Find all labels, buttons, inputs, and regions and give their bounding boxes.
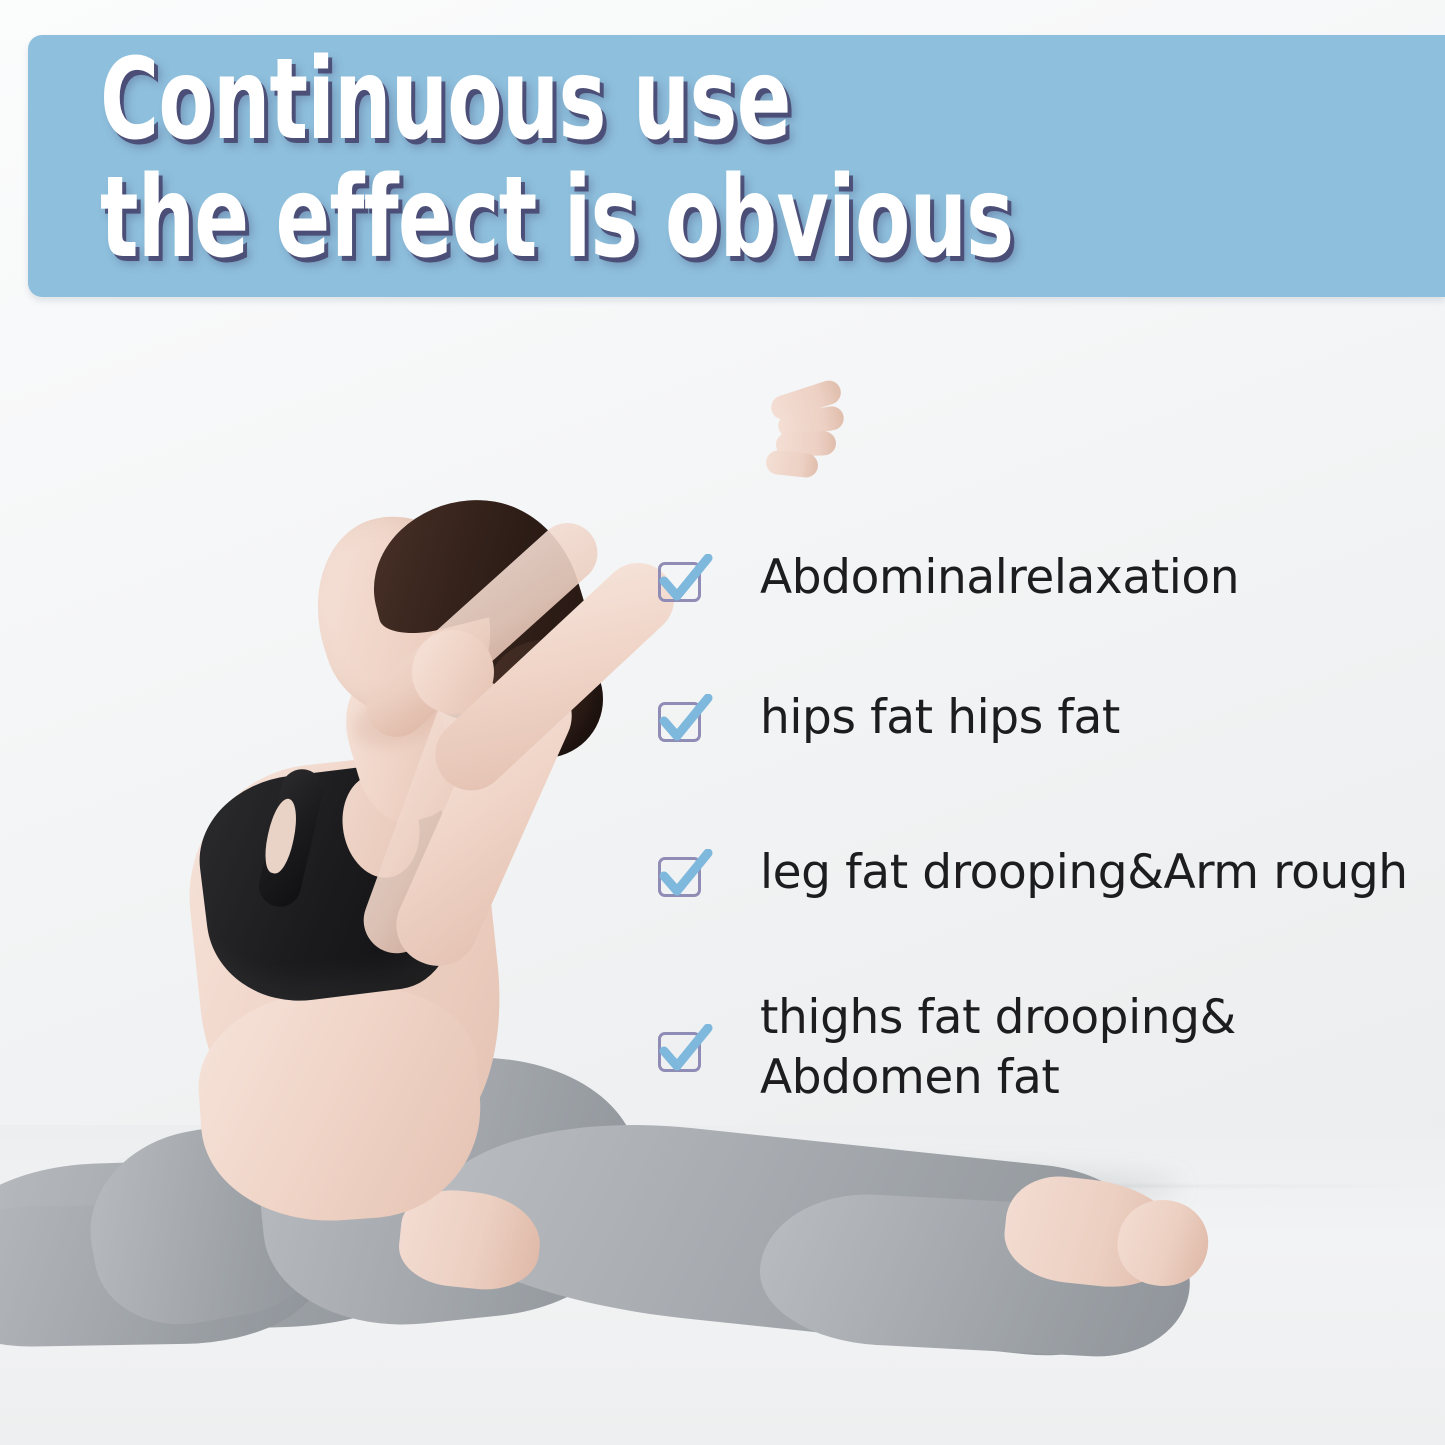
checkbox[interactable] bbox=[655, 554, 713, 610]
promo-image-root: Continuous use the effect is obvious Abd… bbox=[0, 0, 1445, 1445]
checklist-item[interactable]: Abdominalrelaxation bbox=[655, 548, 1239, 610]
checkbox[interactable] bbox=[655, 1024, 713, 1080]
headline-line-1: Continuous use bbox=[100, 41, 1140, 159]
headline-banner: Continuous use the effect is obvious bbox=[28, 35, 1445, 297]
checkbox-outline bbox=[658, 562, 701, 602]
checkbox-outline bbox=[658, 702, 701, 742]
checklist-item[interactable]: leg fat drooping&Arm rough bbox=[655, 843, 1408, 905]
headline-line-2: the effect is obvious bbox=[100, 159, 1140, 277]
checklist-item-label: Abdominalrelaxation bbox=[760, 548, 1239, 608]
checklist-item[interactable]: hips fat hips fat bbox=[655, 688, 1120, 750]
checklist-item-label: hips fat hips fat bbox=[760, 688, 1120, 748]
checkbox[interactable] bbox=[655, 849, 713, 905]
checkbox[interactable] bbox=[655, 694, 713, 750]
checklist-item-label: thighs fat drooping& Abdomen fat bbox=[760, 988, 1236, 1108]
checkbox-outline bbox=[658, 857, 701, 897]
headline-text-block: Continuous use the effect is obvious bbox=[100, 41, 1400, 277]
checkbox-outline bbox=[658, 1032, 701, 1072]
checklist-item[interactable]: thighs fat drooping& Abdomen fat bbox=[655, 988, 1236, 1108]
checklist-item-label: leg fat drooping&Arm rough bbox=[760, 843, 1408, 903]
